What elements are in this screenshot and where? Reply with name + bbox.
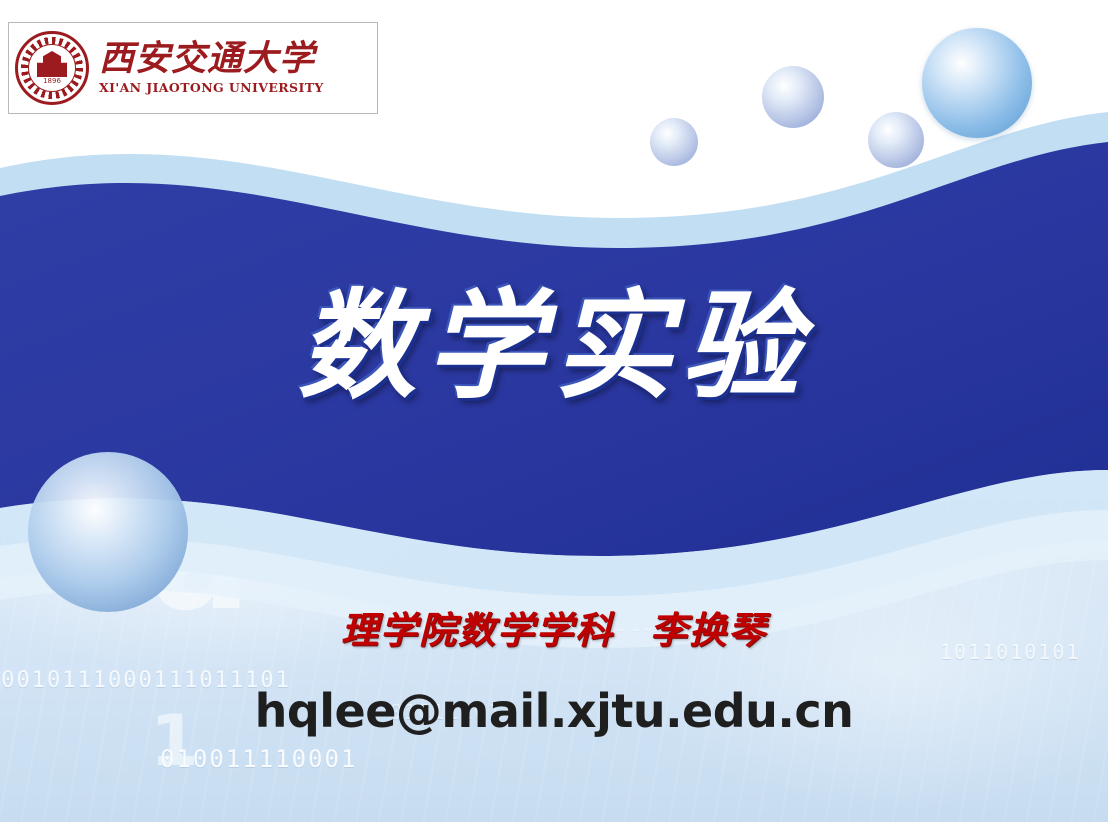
university-logo: 1896 西安交通大学 XI'AN JIAOTONG UNIVERSITY bbox=[8, 22, 378, 114]
bubble-decoration-small bbox=[650, 118, 698, 166]
subtitle-author: 李换琴 bbox=[650, 608, 767, 652]
slide-canvas: a 1 10010111000111011101 010011110001 01… bbox=[0, 0, 1108, 822]
bubble-decoration-medium-1 bbox=[762, 66, 824, 128]
seal-year-label: 1896 bbox=[39, 77, 65, 85]
slide-title: 数学实验 bbox=[0, 250, 1108, 421]
bubble-decoration-large bbox=[922, 28, 1032, 138]
university-name-cn: 西安交通大学 bbox=[99, 41, 324, 78]
university-logo-text: 西安交通大学 XI'AN JIAOTONG UNIVERSITY bbox=[99, 41, 324, 96]
slide-subtitle: 理学院数学学科李换琴 bbox=[0, 600, 1108, 654]
bubble-decoration-left bbox=[28, 452, 188, 612]
bubble-decoration-medium-2 bbox=[868, 112, 924, 168]
subtitle-department: 理学院数学学科 bbox=[341, 608, 614, 652]
university-seal-icon: 1896 bbox=[15, 31, 89, 105]
university-name-en: XI'AN JIAOTONG UNIVERSITY bbox=[99, 80, 324, 95]
contact-email: hqlee@mail.xjtu.edu.cn bbox=[0, 684, 1108, 738]
